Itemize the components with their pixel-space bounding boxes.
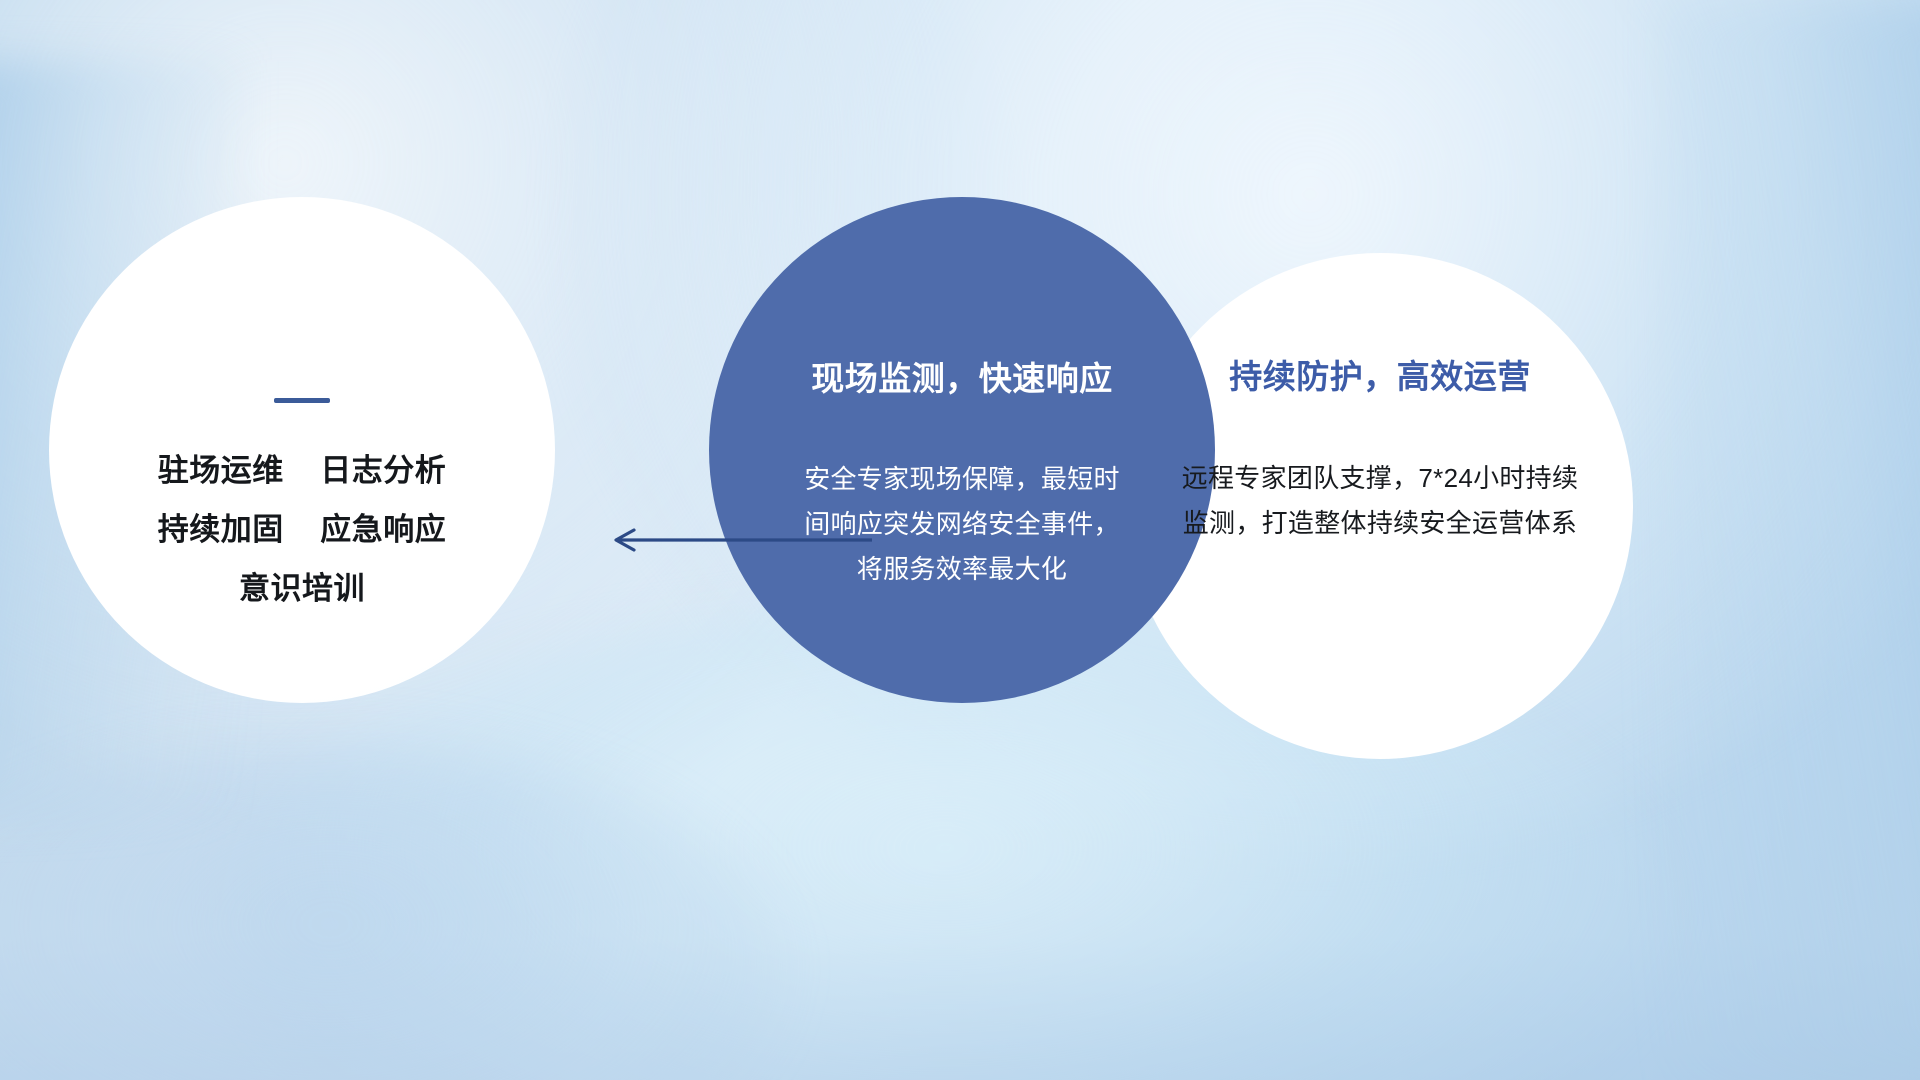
arrow-left-icon (600, 520, 880, 560)
capability-circle-left (49, 197, 555, 703)
slide-canvas: 驻场运维 日志分析 持续加固 应急响应 意识培训 现场监测，快速响应 安全专家现… (0, 0, 1920, 1080)
background-vignette-bottom (0, 780, 1920, 1080)
capability-circle-middle (709, 197, 1215, 703)
